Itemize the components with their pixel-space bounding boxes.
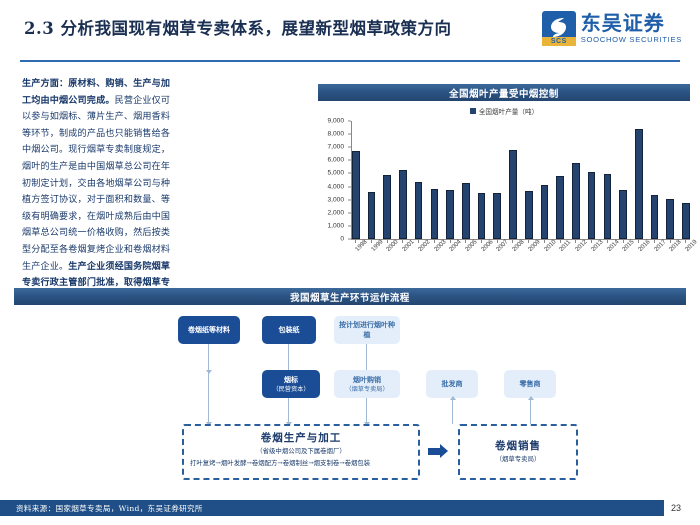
x-tick-label: 2019 <box>684 243 694 253</box>
arrow-paper-to-production <box>208 344 209 370</box>
bar <box>651 195 659 239</box>
bar <box>446 190 454 239</box>
arrow-paper-down <box>208 370 209 422</box>
y-tick-label: 0 <box>340 236 344 243</box>
bar <box>619 190 627 239</box>
y-tick-label: 9,000 <box>327 118 344 125</box>
flow-panel-banner: 我国烟草生产环节运作流程 <box>14 288 686 305</box>
legend-swatch-icon <box>470 108 476 114</box>
arrow-sales-to-wholesaler <box>452 400 453 424</box>
y-tick-mark <box>348 160 351 161</box>
slide: 2.3 分析我国现有烟草专卖体系，展望新型烟草政策方向 SCS 东吴证券 SOO… <box>0 0 700 525</box>
arrow-planting-to-purchase <box>366 344 367 370</box>
bar <box>462 183 470 239</box>
flow-box-label: 按计划进行烟叶种植 <box>337 320 397 340</box>
tobacco-output-chart: 全国烟叶产量（吨） 01,0002,0003,0004,0005,0006,00… <box>318 104 690 276</box>
flow-box-cigarette-label: 烟标 （民营资本） <box>262 370 320 398</box>
arrow-purchase-to-production <box>366 398 367 422</box>
x-tick-label: 2006 <box>480 243 490 253</box>
production-steps: 打叶复烤→烟叶发酵→卷烟配方→卷烟制丝→烟支制卷→卷烟包装 <box>184 458 418 468</box>
logo-badge-text: SCS <box>542 37 576 46</box>
flow-box-retailer: 零售商 <box>504 370 556 398</box>
x-tick-label: 2007 <box>495 243 505 253</box>
chart-plot-area: 01,0002,0003,0004,0005,0006,0007,0008,00… <box>318 121 690 239</box>
logo-company-en: SOOCHOW SECURITIES <box>581 35 682 44</box>
sales-subtitle: （烟草专卖局） <box>460 454 576 463</box>
y-tick-mark <box>348 134 351 135</box>
y-tick-mark <box>348 225 351 226</box>
flow-box-label: 零售商 <box>520 379 541 389</box>
chart-panel-banner: 全国烟叶产量受中烟控制 <box>318 84 690 101</box>
arrow-sales-to-retailer <box>530 400 531 424</box>
y-tick-mark <box>348 147 351 148</box>
bar <box>509 150 517 239</box>
body-paragraph: 生产方面：原材料、购销、生产与加工均由中烟公司完成。民营企业仅可以参与如烟标、薄… <box>22 76 170 308</box>
flow-box-label: 包装纸 <box>279 325 300 335</box>
x-tick-label: 2009 <box>527 243 537 253</box>
bar <box>478 193 486 239</box>
flow-box-sublabel: （民营资本） <box>272 385 309 394</box>
flow-box-label: 烟叶购销 <box>353 375 381 385</box>
page-number: 23 <box>664 500 688 516</box>
x-tick-label: 2015 <box>621 243 631 253</box>
x-axis-labels: 1998199920002001200220032004200520062007… <box>352 245 690 275</box>
slide-header: 2.3 分析我国现有烟草专卖体系，展望新型烟草政策方向 SCS 东吴证券 SOO… <box>0 0 700 62</box>
x-tick-label: 1999 <box>370 243 380 253</box>
tobacco-flow-diagram: 卷烟纸等材料 包装纸 按计划进行烟叶种植 烟标 （民营资本） 烟叶购销 （烟草专… <box>14 308 686 498</box>
x-tick-label: 2008 <box>511 243 521 253</box>
x-tick-label: 2014 <box>606 243 616 253</box>
x-tick-label: 2010 <box>543 243 553 253</box>
flow-box-label: 卷烟纸等材料 <box>188 325 230 335</box>
bar <box>556 176 564 239</box>
company-logo: SCS 东吴证券 SOOCHOW SECURITIES <box>542 8 682 48</box>
x-tick-label: 2005 <box>464 243 474 253</box>
x-tick-label: 2013 <box>590 243 600 253</box>
flow-group-sales: 卷烟销售 （烟草专卖局） <box>458 424 578 480</box>
y-tick-label: 7,000 <box>327 144 344 151</box>
y-tick-mark <box>348 212 351 213</box>
y-tick-mark <box>348 121 351 122</box>
logo-company-cn: 东吴证券 <box>581 13 682 34</box>
arrow-label-to-production <box>288 398 289 422</box>
arrow-production-to-sales-icon <box>428 444 448 458</box>
x-tick-label: 2012 <box>574 243 584 253</box>
y-tick-label: 8,000 <box>327 131 344 138</box>
y-tick-mark <box>348 173 351 174</box>
x-tick-label: 1998 <box>354 243 364 253</box>
y-tick-label: 5,000 <box>327 170 344 177</box>
x-tick-label: 2011 <box>558 243 568 253</box>
y-tick-mark <box>348 186 351 187</box>
bar <box>682 203 690 239</box>
y-tick-label: 4,000 <box>327 183 344 190</box>
chart-legend: 全国烟叶产量（吨） <box>318 106 690 116</box>
x-tick-label: 2000 <box>385 243 395 253</box>
bar <box>525 191 533 239</box>
flow-box-leaf-purchase: 烟叶购销 （烟草专卖局） <box>334 370 400 398</box>
flow-box-sublabel: （烟草专卖局） <box>345 385 388 394</box>
legend-label: 全国烟叶产量（吨） <box>479 106 538 116</box>
x-tick-label: 2016 <box>637 243 647 253</box>
flow-box-leaf-planting: 按计划进行烟叶种植 <box>334 316 400 344</box>
x-tick-label: 2001 <box>401 243 411 253</box>
header-divider <box>20 60 680 62</box>
x-tick-label: 2004 <box>448 243 458 253</box>
y-tick-label: 2,000 <box>327 209 344 216</box>
arrow-packaging-to-label <box>288 344 289 370</box>
y-tick-mark <box>348 239 351 240</box>
bar <box>431 189 439 239</box>
bar <box>572 163 580 239</box>
sales-title: 卷烟销售 <box>460 438 576 453</box>
page-title: 2.3 分析我国现有烟草专卖体系，展望新型烟草政策方向 <box>24 15 451 39</box>
source-footer: 资料来源：国家烟草专卖局，Wind，东吴证券研究所 <box>0 500 664 516</box>
bar <box>383 175 391 239</box>
bar <box>666 199 674 239</box>
bar <box>399 170 407 239</box>
flow-box-label: 批发商 <box>442 379 463 389</box>
production-title: 卷烟生产与加工 <box>184 430 418 445</box>
flow-box-packaging-paper: 包装纸 <box>262 316 316 344</box>
bar <box>368 192 376 239</box>
y-tick-mark <box>348 199 351 200</box>
soochow-logo-icon: SCS <box>542 11 576 45</box>
bar <box>415 182 423 239</box>
y-tick-label: 1,000 <box>327 222 344 229</box>
flow-box-wholesaler: 批发商 <box>426 370 478 398</box>
bar <box>604 174 612 239</box>
y-axis: 01,0002,0003,0004,0005,0006,0007,0008,00… <box>318 121 348 239</box>
bar <box>635 129 643 239</box>
bar <box>352 151 360 239</box>
flow-box-cigarette-paper: 卷烟纸等材料 <box>178 316 240 344</box>
production-subtitle: （省级中烟公司及下属卷烟厂） <box>184 446 418 455</box>
bar <box>493 193 501 239</box>
flow-box-label: 烟标 <box>284 375 298 385</box>
bar <box>541 185 549 239</box>
bar-series <box>352 121 690 239</box>
body-rest: 民营企业仅可以参与如烟标、薄片生产、烟用香料等环节，制成的产品也只能销售给各中烟… <box>22 96 170 272</box>
x-tick-label: 2018 <box>668 243 678 253</box>
x-tick-label: 2003 <box>433 243 443 253</box>
x-tick-label: 2002 <box>417 243 427 253</box>
y-tick-label: 6,000 <box>327 157 344 164</box>
bar <box>588 172 596 239</box>
y-tick-label: 3,000 <box>327 196 344 203</box>
x-tick-label: 2017 <box>653 243 663 253</box>
flow-group-production: 卷烟生产与加工 （省级中烟公司及下属卷烟厂） 打叶复烤→烟叶发酵→卷烟配方→卷烟… <box>182 424 420 480</box>
